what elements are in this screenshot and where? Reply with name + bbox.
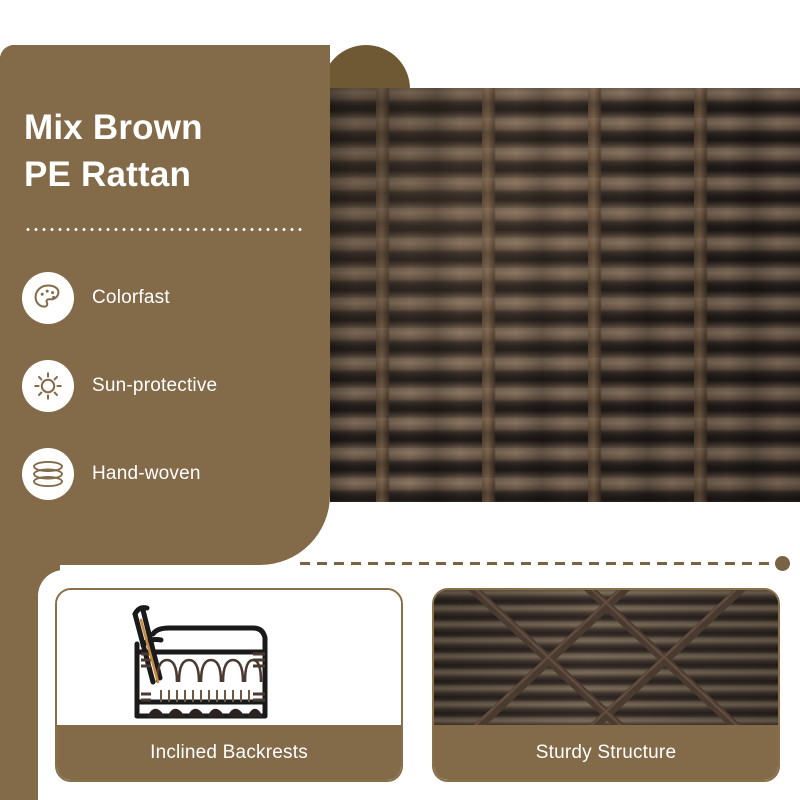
title-line-2: PE Rattan <box>24 152 314 199</box>
feature-item-colorfast: Colorfast <box>22 272 217 324</box>
dashed-separator <box>300 562 770 565</box>
palette-icon <box>22 272 74 324</box>
chair-side-view-image <box>57 590 401 729</box>
feature-card-inclined-backrests: Inclined Backrests <box>55 588 403 782</box>
title-line-1: Mix Brown <box>24 105 314 152</box>
infographic-canvas: Mix Brown PE Rattan Colorfast <box>0 0 800 800</box>
feature-label-colorfast: Colorfast <box>92 287 170 309</box>
feature-list: Colorfast Sun-protective <box>22 272 217 500</box>
title-dotted-divider <box>24 228 302 231</box>
woven-layers-icon <box>22 448 74 500</box>
feature-label-sun-protective: Sun-protective <box>92 375 217 397</box>
sun-icon <box>22 360 74 412</box>
feature-label-hand-woven: Hand-woven <box>92 463 201 485</box>
card-caption-inclined-backrests: Inclined Backrests <box>57 725 401 780</box>
rattan-shading-overlay <box>330 88 800 502</box>
feature-item-hand-woven: Hand-woven <box>22 448 217 500</box>
page-title: Mix Brown PE Rattan <box>24 105 314 198</box>
card-caption-sturdy-structure: Sturdy Structure <box>434 725 778 780</box>
rattan-hero-image <box>330 88 800 502</box>
dashed-separator-end-dot <box>775 556 790 571</box>
feature-card-sturdy-structure: Sturdy Structure <box>432 588 780 782</box>
rattan-bracing-image <box>434 590 778 729</box>
feature-item-sun-protective: Sun-protective <box>22 360 217 412</box>
